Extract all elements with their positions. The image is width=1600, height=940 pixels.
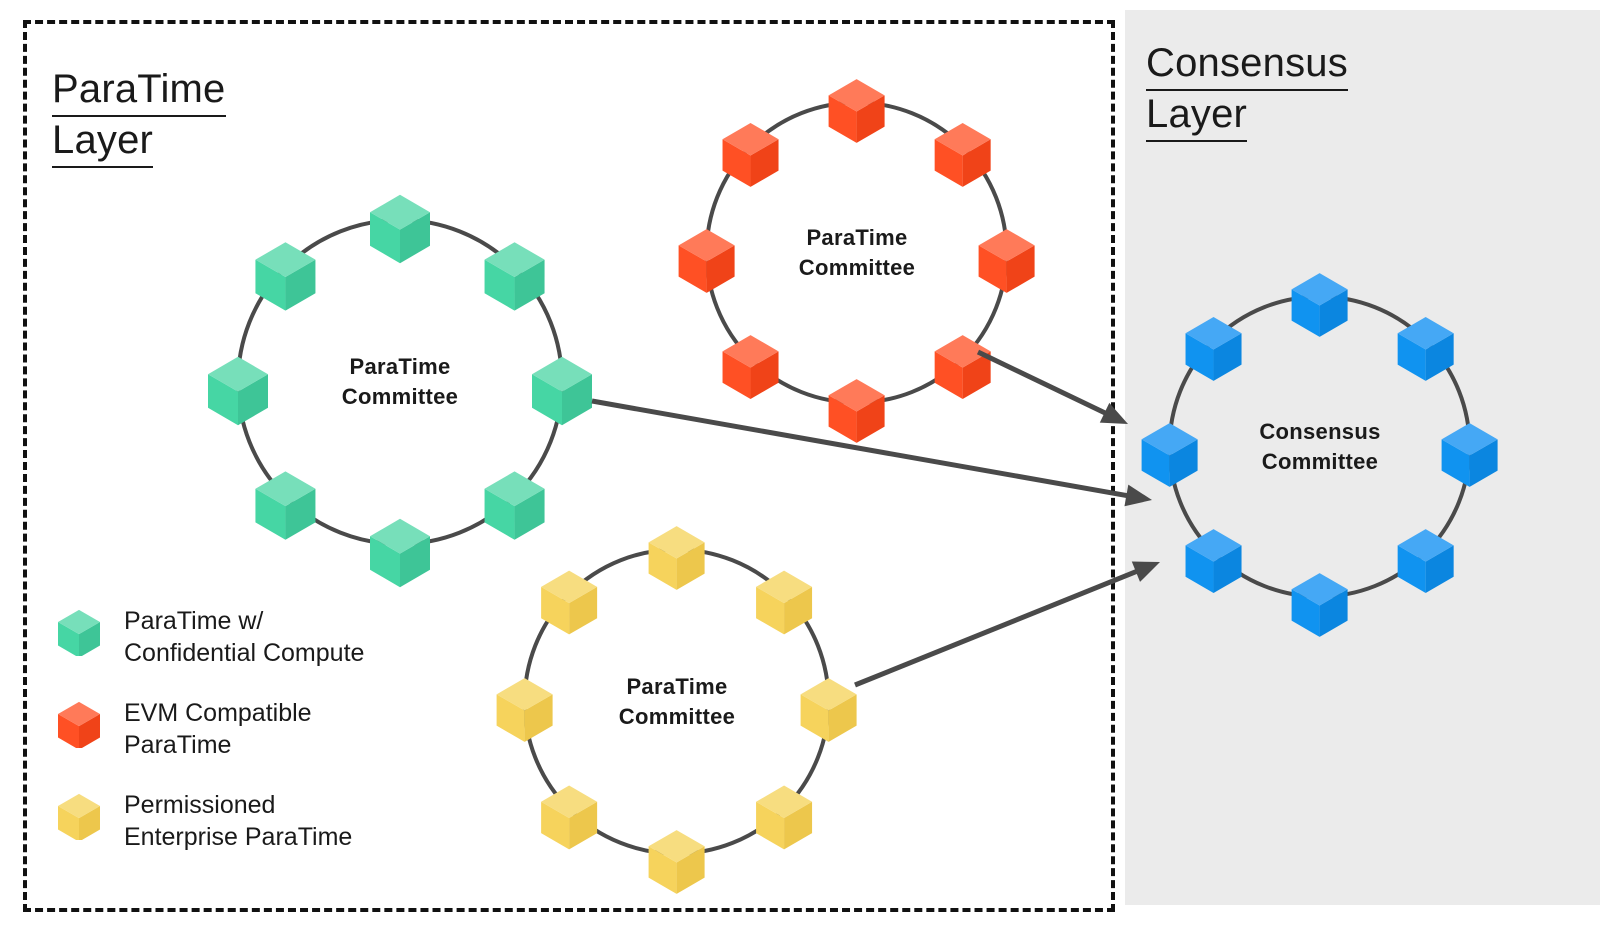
committee-node-cube [1442,423,1498,487]
consensus-layer-title-line-0: Consensus [1146,40,1348,91]
ring-graphic [449,474,904,929]
committee-node-cube [829,379,885,443]
committee-node-cube [255,242,315,310]
legend-cube-icon [55,792,103,840]
paratime-layer-title-line-1: Layer [52,117,153,168]
committee-node-cube [485,242,545,310]
committee-node-cube [1398,530,1454,594]
consensus-layer-title-line-1: Layer [1146,91,1247,142]
committee-node-cube [756,571,812,635]
committee-node-cube [829,79,885,143]
paratime-layer-title-line-0: ParaTime [52,66,226,117]
committee-node-cube [1186,530,1242,594]
committee-node-cube [723,123,779,187]
committee-node-cube [1398,317,1454,381]
legend-item-0: ParaTime w/ Confidential Compute [55,604,364,669]
committee-node-cube [208,357,268,425]
committee-ring-consensus: Consensus Committee [1094,221,1545,672]
legend-cube-icon [58,702,100,748]
consensus-layer-title: ConsensusLayer [1146,40,1348,142]
committee-node-cube [935,336,991,400]
committee-node-cube [497,678,553,742]
committee-node-cube [542,571,598,635]
committee-node-cube [649,830,705,894]
legend-cube-icon [55,700,103,748]
committee-node-cube [679,229,735,293]
committee-node-cube [255,471,315,539]
committee-node-cube [1142,423,1198,487]
legend-label: Permissioned Enterprise ParaTime [124,788,352,853]
legend-cube-icon [55,608,103,656]
committee-node-cube [1292,573,1348,637]
committee-node-cube [542,786,598,850]
committee-node-cube [723,336,779,400]
ring-graphic [631,27,1082,478]
ring-graphic [1094,221,1545,672]
committee-node-cube [756,786,812,850]
legend-label: ParaTime w/ Confidential Compute [124,604,364,669]
committee-ring-paratime-evm: ParaTime Committee [631,27,1082,478]
committee-node-cube [979,229,1035,293]
committee-node-cube [935,123,991,187]
legend-label: EVM Compatible ParaTime [124,696,312,761]
legend-cube-icon [58,794,100,840]
committee-node-cube [532,357,592,425]
committee-node-cube [1292,273,1348,337]
legend-cube-icon [58,610,100,656]
diagram-canvas: ParaTime CommitteeParaTime CommitteePara… [0,0,1600,940]
paratime-layer-title: ParaTimeLayer [52,66,226,168]
committee-node-cube [801,678,857,742]
committee-node-cube [370,519,430,587]
committee-node-cube [1186,317,1242,381]
legend-item-1: EVM Compatible ParaTime [55,696,364,761]
committee-node-cube [649,526,705,590]
committee-ring-paratime-permissioned: ParaTime Committee [449,474,904,929]
legend: ParaTime w/ Confidential ComputeEVM Comp… [55,604,364,880]
committee-node-cube [370,195,430,263]
legend-item-2: Permissioned Enterprise ParaTime [55,788,364,853]
